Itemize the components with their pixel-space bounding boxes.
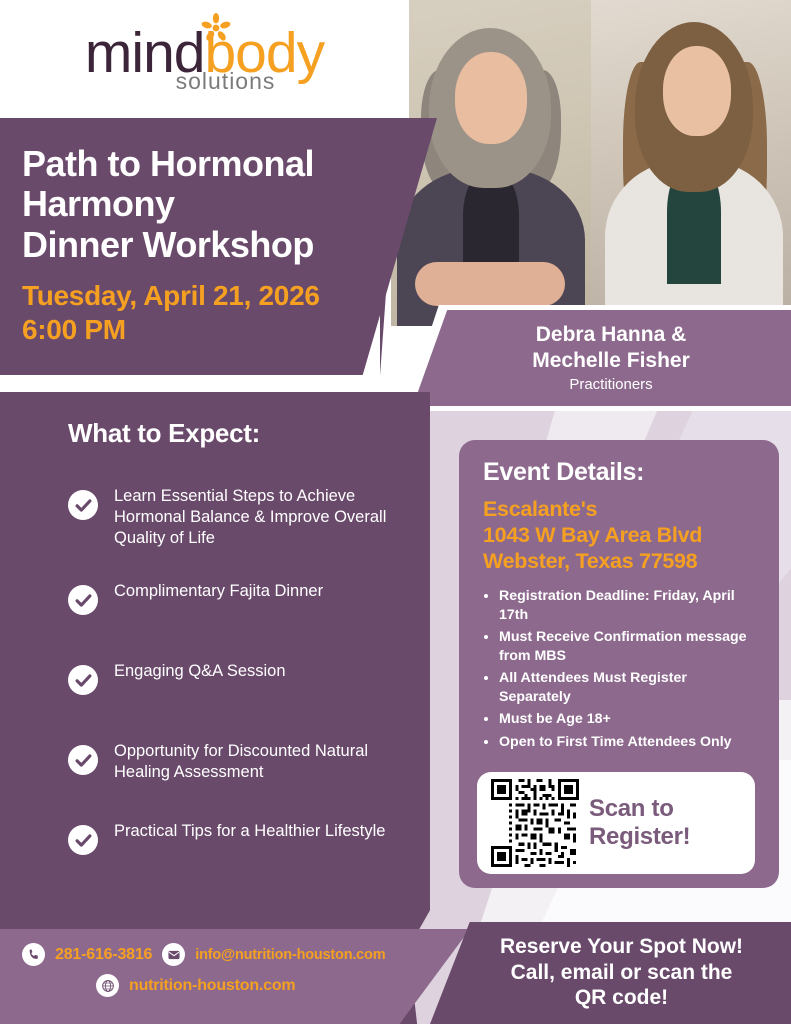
footer-cta-text: Reserve Your Spot Now! Call, email or sc… [430, 934, 791, 1011]
photo-face [663, 46, 731, 136]
phone-number[interactable]: 281-616-3816 [55, 946, 152, 964]
page-title: Path to Hormonal Harmony Dinner Workshop [22, 144, 413, 265]
list-item-label: Engaging Q&A Session [114, 655, 286, 682]
presenter-role: Practitioners [409, 376, 791, 393]
email-address[interactable]: info@nutrition-houston.com [195, 947, 385, 963]
photo-face [455, 52, 527, 144]
presenter-name-2: Mechelle Fisher [431, 348, 791, 374]
list-item: Opportunity for Discounted Natural Heali… [68, 735, 413, 789]
presenter-photos [391, 0, 791, 326]
contact-row-primary: 281-616-3816 info@nutrition-houston.com [22, 943, 470, 966]
qr-label-line-1: Scan to [589, 795, 690, 823]
qr-label: Scan to Register! [589, 795, 690, 852]
list-item: Practical Tips for a Healthier Lifestyle [68, 815, 413, 869]
title-line-2: Harmony [22, 184, 413, 224]
contact-band: 281-616-3816 info@nutrition-houston.com … [0, 929, 470, 1024]
qr-registration-box[interactable]: Scan to Register! [477, 772, 755, 874]
contact-row-website: nutrition-houston.com [22, 974, 470, 997]
list-item: All Attendees Must Register Separately [499, 668, 761, 706]
venue-address: Escalante's 1043 W Bay Area Blvd Webster… [483, 497, 761, 574]
presenter-banner-wrap: Debra Hanna & Mechelle Fisher Practition… [404, 305, 791, 411]
list-item-label: Learn Essential Steps to Achieve Hormona… [114, 480, 413, 549]
check-circle-icon [68, 490, 98, 520]
list-item-label: Complimentary Fajita Dinner [114, 575, 323, 602]
title-block: Path to Hormonal Harmony Dinner Workshop… [0, 118, 437, 375]
decorative-white-gap [0, 375, 409, 392]
check-circle-icon [68, 745, 98, 775]
event-requirements-list: Registration Deadline: Friday, April 17t… [483, 586, 761, 751]
list-item: Engaging Q&A Session [68, 655, 413, 709]
event-datetime: Tuesday, April 21, 2026 6:00 PM [22, 279, 413, 346]
footer-cta-band: Reserve Your Spot Now! Call, email or sc… [430, 922, 791, 1024]
phone-icon [22, 943, 45, 966]
what-to-expect-list: Learn Essential Steps to Achieve Hormona… [68, 480, 413, 895]
mindbody-solutions-logo: mindbody solutions [85, 25, 324, 93]
presenter-banner: Debra Hanna & Mechelle Fisher Practition… [409, 310, 791, 406]
list-item: Complimentary Fajita Dinner [68, 575, 413, 629]
qr-label-line-2: Register! [589, 823, 690, 851]
asterisk-flower-icon [201, 13, 231, 43]
list-item: Open to First Time Attendees Only [499, 732, 761, 751]
list-item: Registration Deadline: Friday, April 17t… [499, 586, 761, 624]
event-date: Tuesday, April 21, 2026 [22, 279, 413, 313]
list-item: Learn Essential Steps to Achieve Hormona… [68, 480, 413, 549]
check-circle-icon [68, 585, 98, 615]
website-url[interactable]: nutrition-houston.com [129, 977, 295, 995]
check-circle-icon [68, 825, 98, 855]
check-circle-icon [68, 665, 98, 695]
list-item-label: Opportunity for Discounted Natural Heali… [114, 735, 413, 783]
list-item: Must Receive Confirmation message from M… [499, 627, 761, 665]
footer-line-2: Call, email or scan the [452, 960, 791, 986]
presenter-names: Debra Hanna & Mechelle Fisher [409, 322, 791, 373]
footer-line-1: Reserve Your Spot Now! [452, 934, 791, 960]
venue-address-line-1: 1043 W Bay Area Blvd [483, 523, 761, 549]
qr-code-icon[interactable] [491, 779, 579, 867]
logo-panel: mindbody solutions [0, 0, 409, 118]
globe-icon [96, 974, 119, 997]
email-icon [162, 943, 185, 966]
presenter-name-1: Debra Hanna & [431, 322, 791, 348]
photo-mechelle-fisher [591, 0, 791, 326]
photo-arms [415, 262, 565, 306]
flyer-root: mindbody solutions Path to Hormonal Harm… [0, 0, 791, 1024]
what-to-expect-heading: What to Expect: [68, 418, 260, 449]
event-details-heading: Event Details: [483, 458, 761, 487]
list-item-label: Practical Tips for a Healthier Lifestyle [114, 815, 385, 842]
title-line-1: Path to Hormonal [22, 144, 413, 184]
venue-address-line-2: Webster, Texas 77598 [483, 549, 761, 575]
footer-line-3: QR code! [452, 985, 791, 1011]
list-item: Must be Age 18+ [499, 709, 761, 728]
event-time: 6:00 PM [22, 313, 413, 347]
title-line-3: Dinner Workshop [22, 225, 413, 265]
event-details-card: Event Details: Escalante's 1043 W Bay Ar… [459, 440, 779, 888]
venue-name: Escalante's [483, 497, 761, 523]
